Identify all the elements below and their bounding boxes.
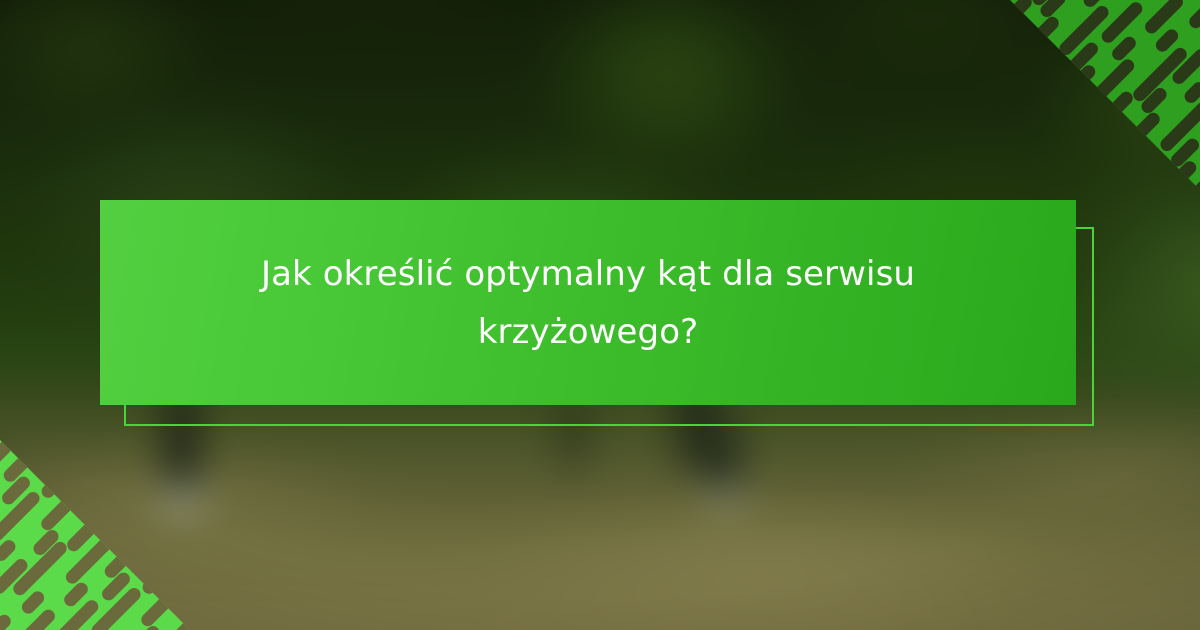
page-title: Jak określić optymalny kąt dla serwisu k… — [228, 245, 948, 361]
headline-banner: Jak określić optymalny kąt dla serwisu k… — [100, 200, 1076, 405]
share-card-canvas: Jak określić optymalny kąt dla serwisu k… — [0, 0, 1200, 630]
